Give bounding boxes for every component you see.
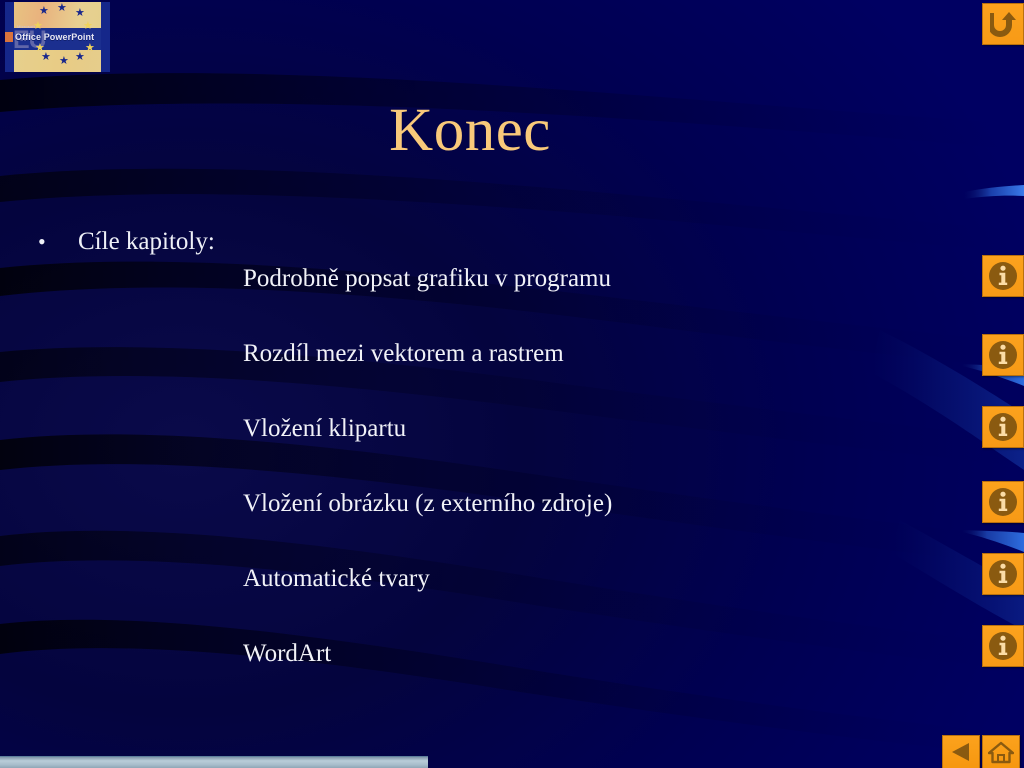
presentation-slide: EU Microsoft Office PowerPoint ★ ★ ★ ★ ★… <box>0 0 1024 768</box>
status-bar <box>0 756 428 768</box>
bullet-label: Cíle kapitoly: <box>78 228 215 256</box>
info-icon <box>988 412 1018 442</box>
info-button-1[interactable] <box>982 255 1024 297</box>
back-triangle-icon <box>949 741 973 763</box>
eu-star-icon: ★ <box>33 21 43 32</box>
eu-star-icon: ★ <box>39 6 49 17</box>
objectives-list: Podrobně popsat grafiku v programu Rozdí… <box>243 265 612 715</box>
eu-star-icon: ★ <box>85 43 95 54</box>
info-icon <box>988 487 1018 517</box>
list-item: WordArt <box>243 640 612 715</box>
return-arrow-button[interactable] <box>982 3 1024 45</box>
navigation-sidebar <box>975 0 1024 768</box>
info-icon <box>988 631 1018 661</box>
list-item: Vložení klipartu <box>243 415 612 490</box>
info-button-4[interactable] <box>982 481 1024 523</box>
eu-star-icon: ★ <box>83 21 93 32</box>
info-icon <box>988 261 1018 291</box>
eu-star-icon: ★ <box>59 56 69 67</box>
home-button[interactable] <box>982 735 1020 768</box>
info-icon <box>988 340 1018 370</box>
u-turn-arrow-icon <box>990 11 1016 38</box>
info-button-5[interactable] <box>982 553 1024 595</box>
list-item: Rozdíl mezi vektorem a rastrem <box>243 340 612 415</box>
eu-star-icon: ★ <box>41 52 51 63</box>
info-button-6[interactable] <box>982 625 1024 667</box>
list-item: Automatické tvary <box>243 565 612 640</box>
ribbon-decoration <box>962 184 1024 210</box>
list-item: Podrobně popsat grafiku v programu <box>243 265 612 340</box>
bullet-marker-icon: • <box>38 231 78 253</box>
eu-star-icon: ★ <box>75 52 85 63</box>
previous-slide-button[interactable] <box>942 735 980 768</box>
eu-star-icon: ★ <box>75 8 85 19</box>
eu-powerpoint-logo: EU Microsoft Office PowerPoint ★ ★ ★ ★ ★… <box>5 2 110 72</box>
info-button-2[interactable] <box>982 334 1024 376</box>
bullet-row: • Cíle kapitoly: <box>38 228 215 256</box>
info-button-3[interactable] <box>982 406 1024 448</box>
home-icon <box>988 741 1014 764</box>
logo-product-text: Office PowerPoint <box>15 32 94 42</box>
list-item: Vložení obrázku (z externího zdroje) <box>243 490 612 565</box>
info-icon <box>988 559 1018 589</box>
slide-title: Konec <box>0 100 940 161</box>
eu-star-icon: ★ <box>57 3 67 14</box>
